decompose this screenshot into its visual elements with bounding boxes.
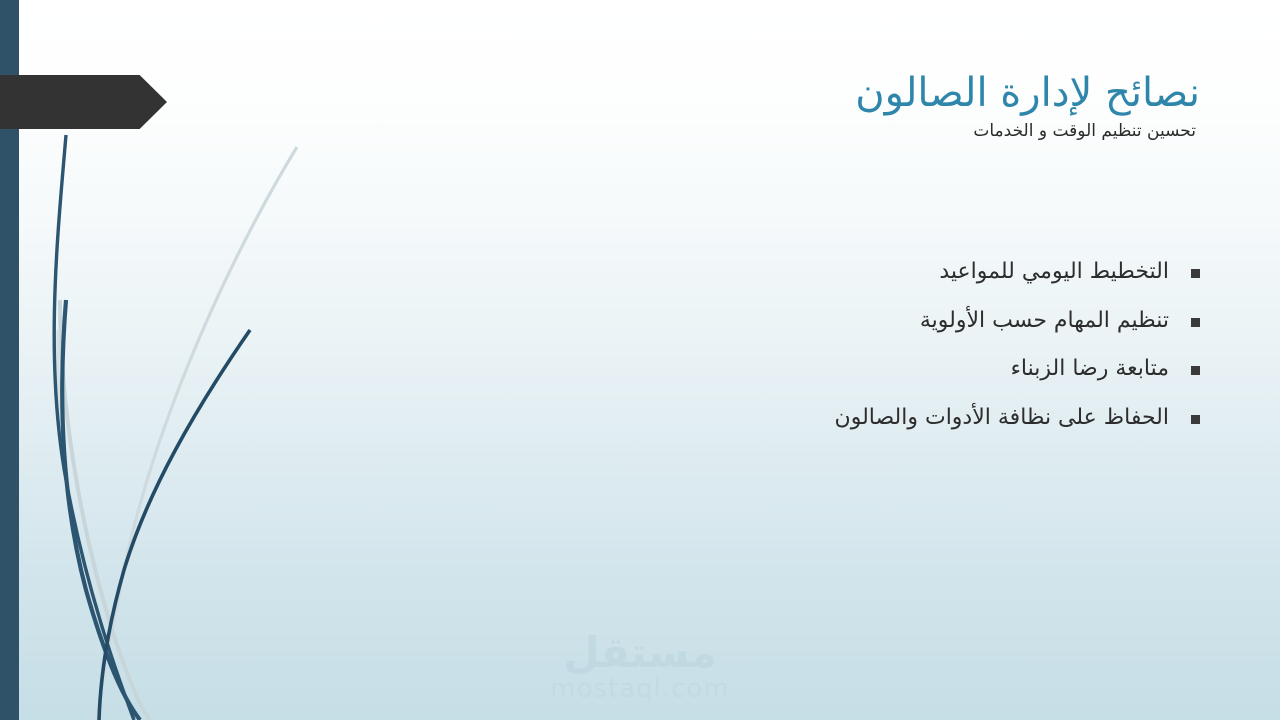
list-item: متابعة رضا الزبناء	[640, 355, 1200, 384]
square-bullet-icon	[1191, 269, 1200, 278]
list-item: التخطيط اليومي للمواعيد	[640, 258, 1200, 287]
list-item-label: التخطيط اليومي للمواعيد	[640, 258, 1169, 287]
list-item: تنظيم المهام حسب الأولوية	[640, 307, 1200, 336]
list-item-label: الحفاظ على نظافة الأدوات والصالون	[640, 404, 1169, 433]
presentation-slide: نصائح لإدارة الصالون تحسين تنظيم الوقت و…	[0, 0, 1280, 720]
square-bullet-icon	[1191, 415, 1200, 424]
title-block: نصائح لإدارة الصالون تحسين تنظيم الوقت و…	[640, 72, 1200, 142]
list-item-label: تنظيم المهام حسب الأولوية	[640, 307, 1169, 336]
page-title: نصائح لإدارة الصالون	[640, 72, 1200, 115]
slide-content: نصائح لإدارة الصالون تحسين تنظيم الوقت و…	[0, 0, 1280, 720]
list-item: الحفاظ على نظافة الأدوات والصالون	[640, 404, 1200, 433]
page-subtitle: تحسين تنظيم الوقت و الخدمات	[640, 121, 1196, 142]
list-item-label: متابعة رضا الزبناء	[640, 355, 1169, 384]
bullet-list: التخطيط اليومي للمواعيد تنظيم المهام حسب…	[640, 258, 1200, 452]
square-bullet-icon	[1191, 318, 1200, 327]
square-bullet-icon	[1191, 366, 1200, 375]
